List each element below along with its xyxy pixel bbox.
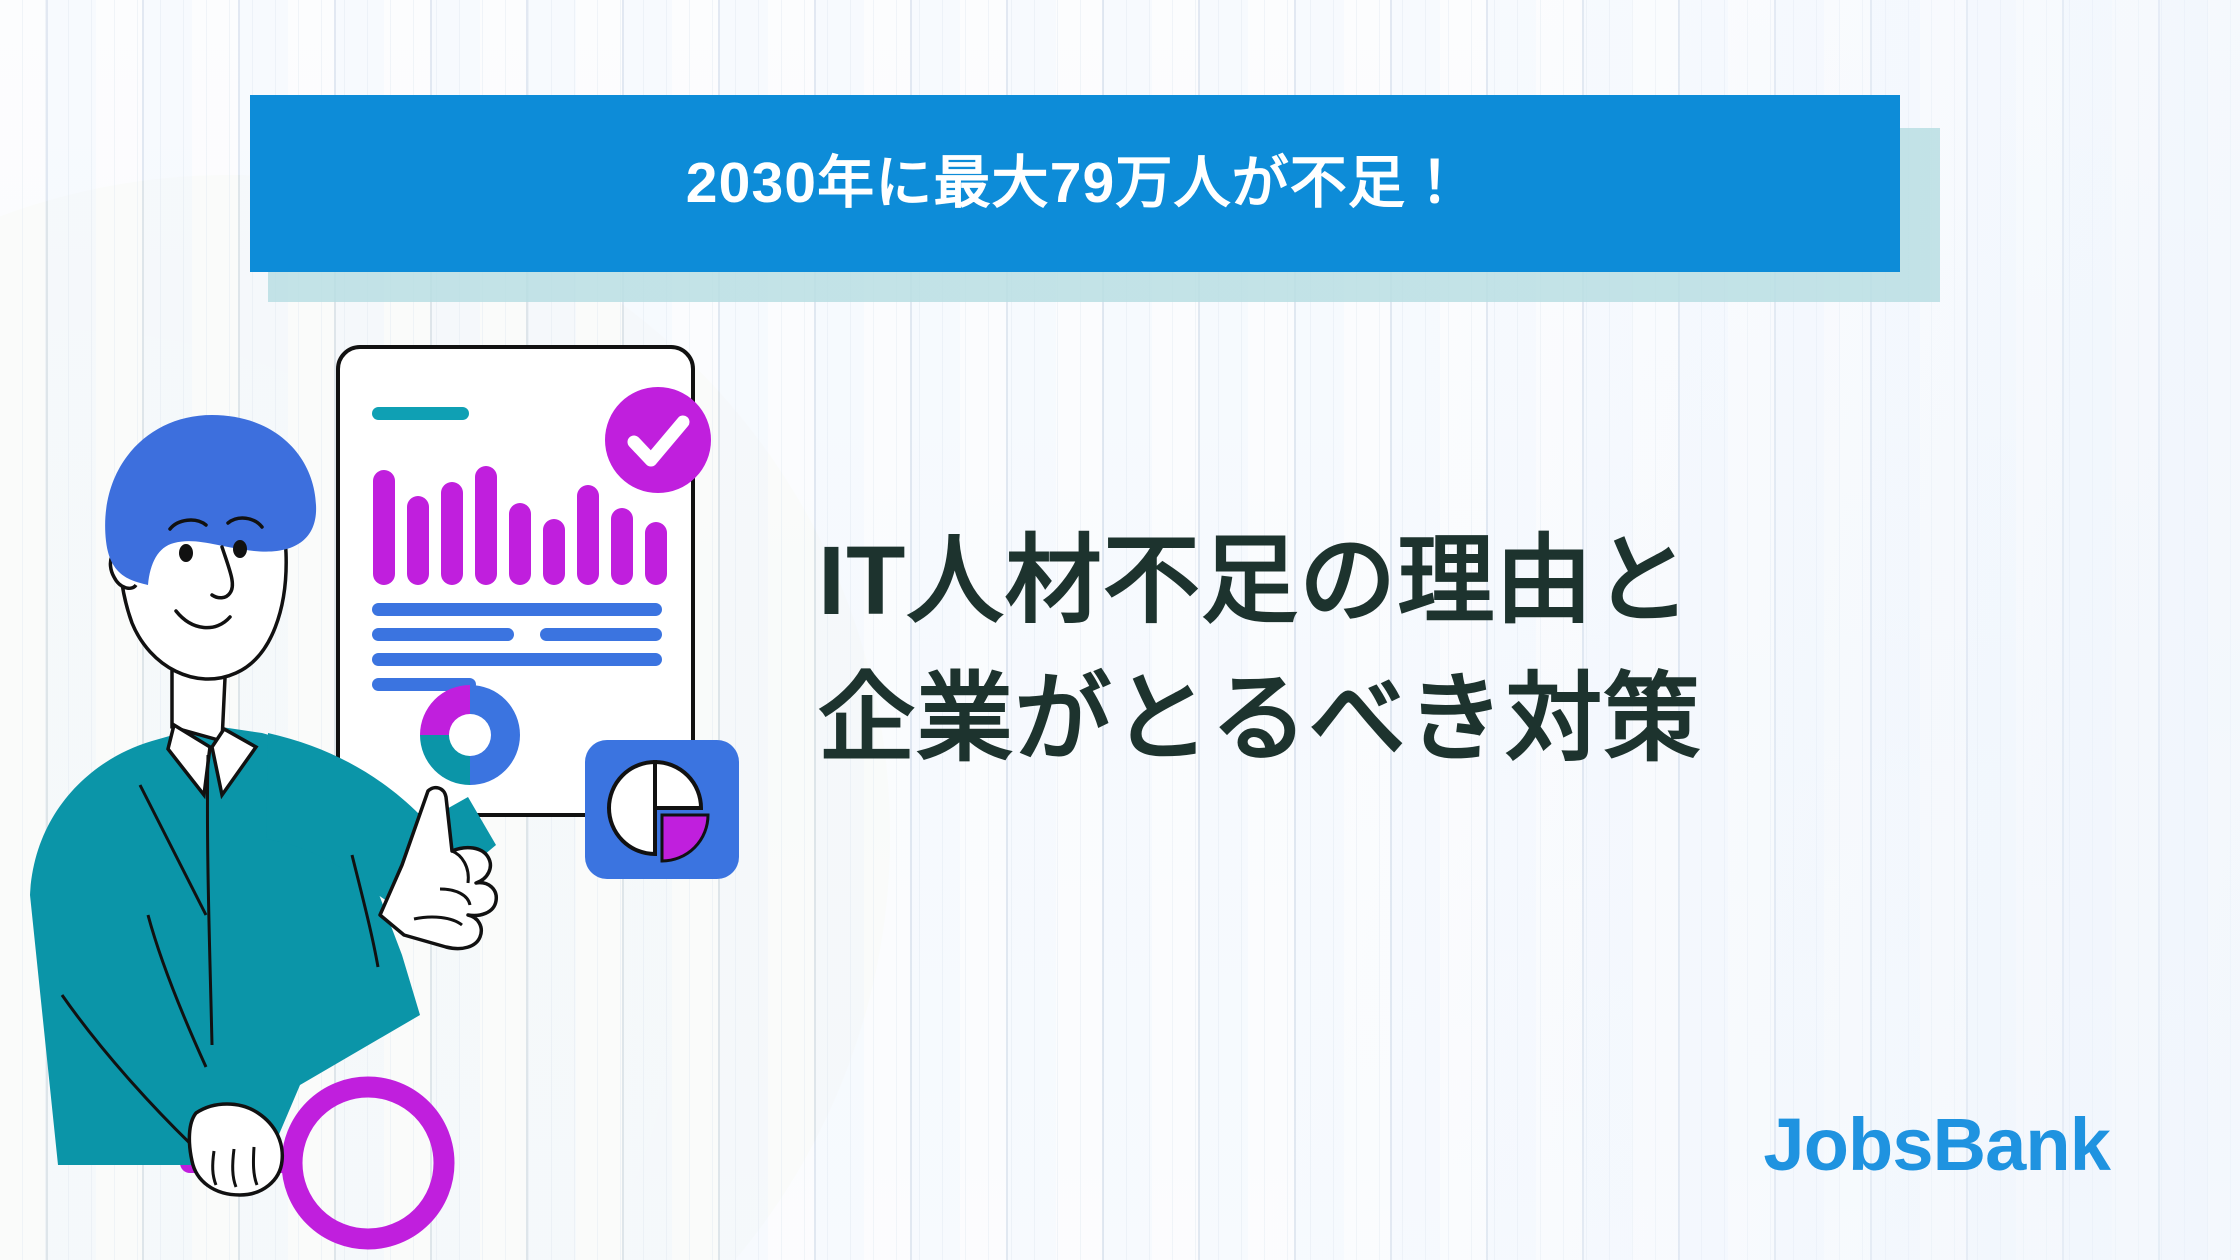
eye-right bbox=[233, 540, 247, 558]
report-header-bar bbox=[372, 407, 469, 420]
headline-banner-text: 2030年に最大79万人が不足！ bbox=[686, 155, 1464, 212]
headline-banner: 2030年に最大79万人が不足！ bbox=[250, 95, 1900, 272]
pie-chart-tile bbox=[585, 740, 739, 879]
brand-logo: JobsBank bbox=[1763, 1108, 2110, 1182]
eye-left bbox=[179, 544, 193, 562]
page-title-line-1: IT人材不足の理由と bbox=[818, 512, 2138, 650]
page-title: IT人材不足の理由と 企業がとるべき対策 bbox=[818, 512, 2138, 787]
check-icon bbox=[605, 387, 711, 493]
report-donut-chart bbox=[420, 685, 520, 785]
hero-illustration bbox=[0, 255, 800, 1255]
page-title-line-2: 企業がとるべき対策 bbox=[818, 650, 2138, 788]
poster-canvas: 2030年に最大79万人が不足！ IT人材不足の理由と 企業がとるべき対策 Jo… bbox=[0, 0, 2240, 1260]
